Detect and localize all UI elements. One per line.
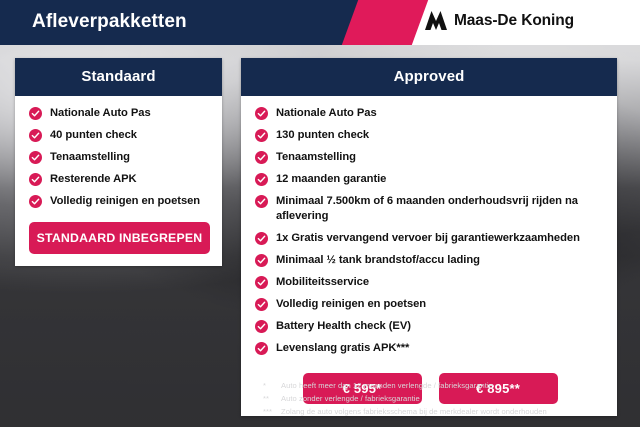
check-circle-icon — [29, 195, 42, 208]
feature-item: Minimaal 7.500km of 6 maanden onderhouds… — [255, 194, 605, 224]
check-circle-icon — [29, 173, 42, 186]
feature-item: 1x Gratis vervangend vervoer bij garanti… — [255, 231, 605, 246]
header-pink-accent-shape — [342, 0, 428, 45]
feature-label: 130 punten check — [276, 129, 369, 141]
feature-list-standaard: Nationale Auto Pas40 punten checkTenaams… — [29, 106, 210, 209]
feature-item: 40 punten check — [29, 128, 210, 143]
feature-item: Battery Health check (EV) — [255, 319, 605, 334]
feature-item: Resterende APK — [29, 172, 210, 187]
feature-item: Tenaamstelling — [29, 150, 210, 165]
check-circle-icon — [255, 320, 268, 333]
check-circle-icon — [255, 129, 268, 142]
feature-item: Tenaamstelling — [255, 150, 605, 165]
feature-list-approved: Nationale Auto Pas130 punten checkTenaam… — [255, 106, 605, 356]
feature-label: Nationale Auto Pas — [276, 107, 377, 119]
maas-de-koning-m-logo-icon — [425, 11, 447, 30]
feature-label: Tenaamstelling — [276, 151, 356, 163]
card-title-standaard: Standaard — [15, 58, 222, 96]
check-circle-icon — [255, 151, 268, 164]
feature-item: 12 maanden garantie — [255, 172, 605, 187]
feature-label: Minimaal 7.500km of 6 maanden onderhouds… — [276, 195, 578, 222]
feature-item: Mobiliteitsservice — [255, 275, 605, 290]
feature-item: 130 punten check — [255, 128, 605, 143]
feature-label: Tenaamstelling — [50, 151, 130, 163]
slide-canvas: Afleverpakketten Maas-De Koning Standaar… — [0, 0, 640, 427]
check-circle-icon — [255, 232, 268, 245]
feature-label: Resterende APK — [50, 173, 137, 185]
feature-item: Nationale Auto Pas — [29, 106, 210, 121]
feature-item: Volledig reinigen en poetsen — [29, 194, 210, 209]
feature-label: Levenslang gratis APK*** — [276, 342, 409, 354]
feature-item: Minimaal ½ tank brandstof/accu lading — [255, 253, 605, 268]
check-circle-icon — [255, 342, 268, 355]
feature-label: Volledig reinigen en poetsen — [50, 195, 200, 207]
check-circle-icon — [255, 254, 268, 267]
card-title-approved: Approved — [241, 58, 617, 96]
check-circle-icon — [255, 173, 268, 186]
footnote-marker: ** — [263, 394, 281, 405]
package-card-standaard: Standaard Nationale Auto Pas40 punten ch… — [15, 58, 222, 266]
feature-label: Volledig reinigen en poetsen — [276, 298, 426, 310]
feature-label: 12 maanden garantie — [276, 173, 386, 185]
check-circle-icon — [255, 107, 268, 120]
card-body-approved: Nationale Auto Pas130 punten checkTenaam… — [241, 96, 617, 416]
check-circle-icon — [29, 129, 42, 142]
footnote-marker: *** — [263, 407, 281, 418]
feature-item: Levenslang gratis APK*** — [255, 341, 605, 356]
footnote-block: * Auto heeft meer dan 12 maanden verleng… — [263, 381, 623, 419]
footnote-row: ** Auto zonder verlengde / fabrieksgaran… — [263, 394, 623, 405]
package-card-approved: Approved Nationale Auto Pas130 punten ch… — [241, 58, 617, 416]
feature-label: Mobiliteitsservice — [276, 276, 369, 288]
check-circle-icon — [255, 298, 268, 311]
footnote-row: *** Zolang de auto volgens fabrieksschem… — [263, 407, 623, 418]
feature-label: 40 punten check — [50, 129, 137, 141]
feature-label: Battery Health check (EV) — [276, 320, 411, 332]
check-circle-icon — [255, 195, 268, 208]
feature-label: Minimaal ½ tank brandstof/accu lading — [276, 254, 480, 266]
card-body-standaard: Nationale Auto Pas40 punten checkTenaams… — [15, 96, 222, 266]
standaard-inbegrepen-button[interactable]: STANDAARD INBEGREPEN — [29, 222, 210, 254]
footnote-text: Auto heeft meer dan 12 maanden verlengde… — [281, 381, 623, 392]
footnote-marker: * — [263, 381, 281, 392]
feature-item: Nationale Auto Pas — [255, 106, 605, 121]
feature-label: 1x Gratis vervangend vervoer bij garanti… — [276, 232, 580, 244]
check-circle-icon — [255, 276, 268, 289]
page-header: Afleverpakketten Maas-De Koning — [0, 0, 640, 45]
brand-lockup: Maas-De Koning — [425, 11, 574, 30]
footnote-row: * Auto heeft meer dan 12 maanden verleng… — [263, 381, 623, 392]
feature-label: Nationale Auto Pas — [50, 107, 151, 119]
check-circle-icon — [29, 151, 42, 164]
footnote-text: Auto zonder verlengde / fabrieksgarantie — [281, 394, 623, 405]
check-circle-icon — [29, 107, 42, 120]
page-title: Afleverpakketten — [32, 11, 187, 33]
brand-name: Maas-De Koning — [454, 12, 574, 30]
footnote-text: Zolang de auto volgens fabrieksschema bi… — [281, 407, 623, 418]
feature-item: Volledig reinigen en poetsen — [255, 297, 605, 312]
